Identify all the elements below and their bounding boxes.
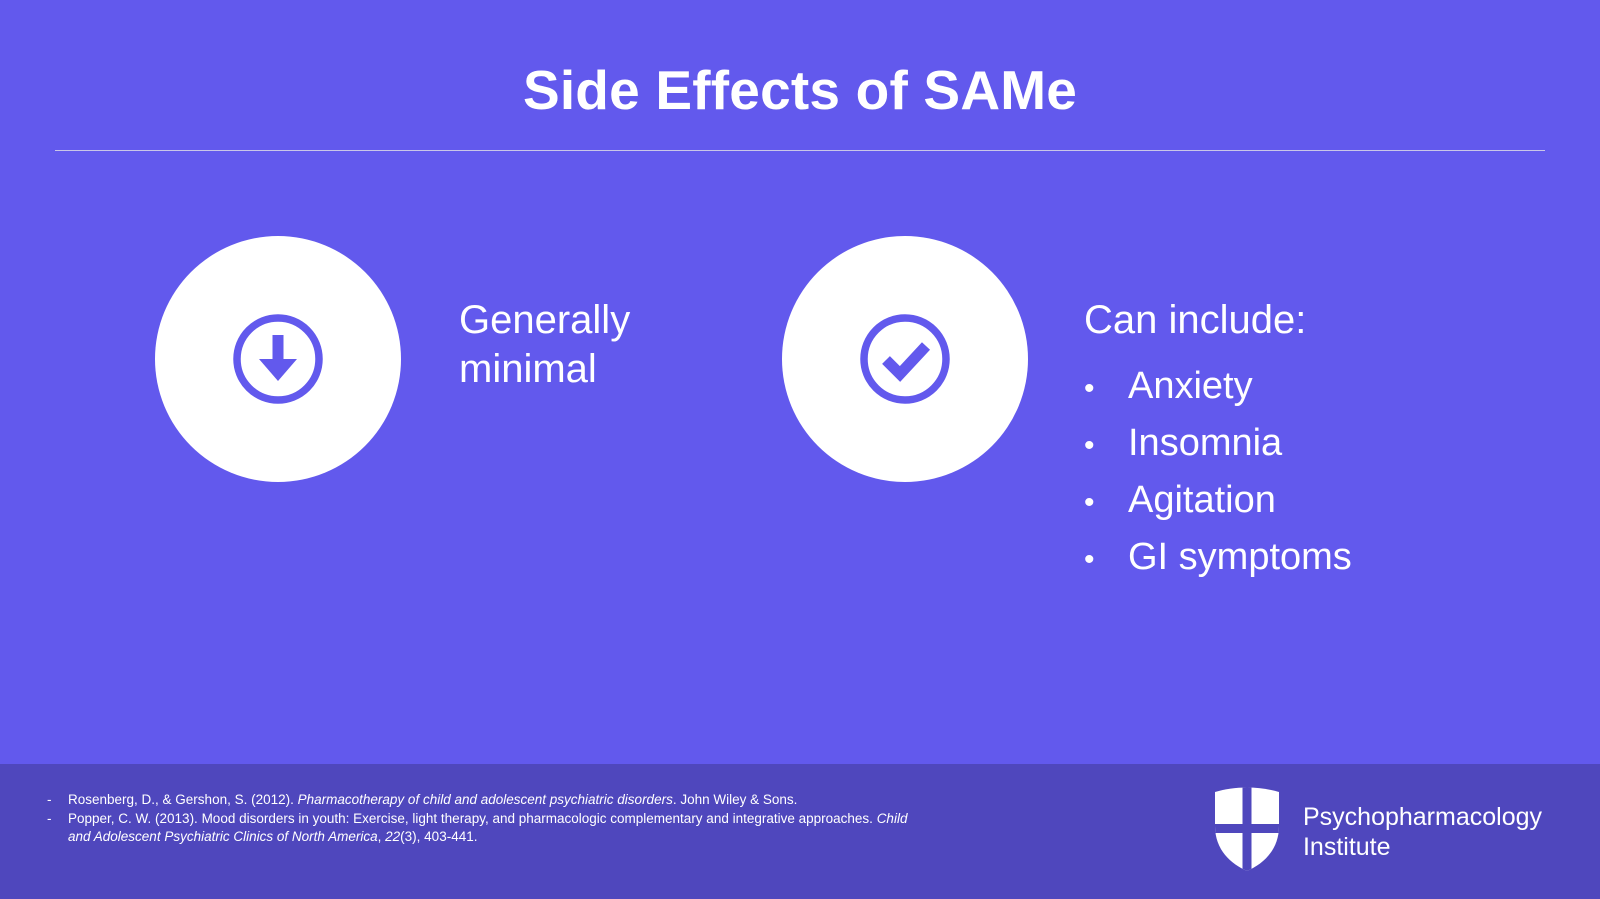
list-item: • Agitation	[1084, 481, 1352, 519]
reference-item: - Rosenberg, D., & Gershon, S. (2012). P…	[47, 791, 927, 810]
bullet-marker: •	[1084, 545, 1128, 575]
reference-text: Rosenberg, D., & Gershon, S. (2012). Pha…	[68, 791, 927, 810]
reference-marker: -	[47, 791, 68, 810]
brand-logo: Psychopharmacology Institute	[1211, 786, 1542, 877]
bullet-label: Insomnia	[1128, 424, 1282, 462]
column-can-include: Can include: • Anxiety • Insomnia • Agit…	[782, 236, 1352, 595]
page-title: Side Effects of SAMe	[0, 62, 1600, 120]
reference-marker: -	[47, 810, 68, 829]
column-left-text: Generally minimal	[459, 236, 630, 394]
shield-logo-icon	[1211, 786, 1283, 877]
column-right-text: Can include: • Anxiety • Insomnia • Agit…	[1084, 236, 1352, 595]
list-item: • GI symptoms	[1084, 538, 1352, 576]
check-circle-icon	[855, 309, 955, 409]
footer-bar: - Rosenberg, D., & Gershon, S. (2012). P…	[0, 764, 1600, 899]
bullet-marker: •	[1084, 431, 1128, 461]
icon-circle-right	[782, 236, 1028, 482]
title-divider	[55, 150, 1545, 151]
bullet-marker: •	[1084, 488, 1128, 518]
arrow-down-circle-icon	[228, 309, 328, 409]
bullet-label: Agitation	[1128, 481, 1276, 519]
bullet-label: Anxiety	[1128, 367, 1253, 405]
icon-circle-left	[155, 236, 401, 482]
column-left-heading: Generally minimal	[459, 296, 630, 394]
list-item: • Insomnia	[1084, 424, 1352, 462]
bullet-label: GI symptoms	[1128, 538, 1352, 576]
slide-root: Side Effects of SAMe Generally minimal	[0, 0, 1600, 899]
title-block: Side Effects of SAMe	[0, 62, 1600, 120]
column-generally-minimal: Generally minimal	[155, 236, 630, 482]
reference-item: - Popper, C. W. (2013). Mood disorders i…	[47, 810, 927, 847]
content-area: Generally minimal Can include: • Anxie	[0, 236, 1600, 736]
references-block: - Rosenberg, D., & Gershon, S. (2012). P…	[47, 791, 927, 847]
reference-text: Popper, C. W. (2013). Mood disorders in …	[68, 810, 927, 847]
column-right-heading: Can include:	[1084, 296, 1352, 345]
side-effects-list: • Anxiety • Insomnia • Agitation • GI sy…	[1084, 367, 1352, 576]
list-item: • Anxiety	[1084, 367, 1352, 405]
bullet-marker: •	[1084, 374, 1128, 404]
brand-name: Psychopharmacology Institute	[1303, 802, 1542, 862]
